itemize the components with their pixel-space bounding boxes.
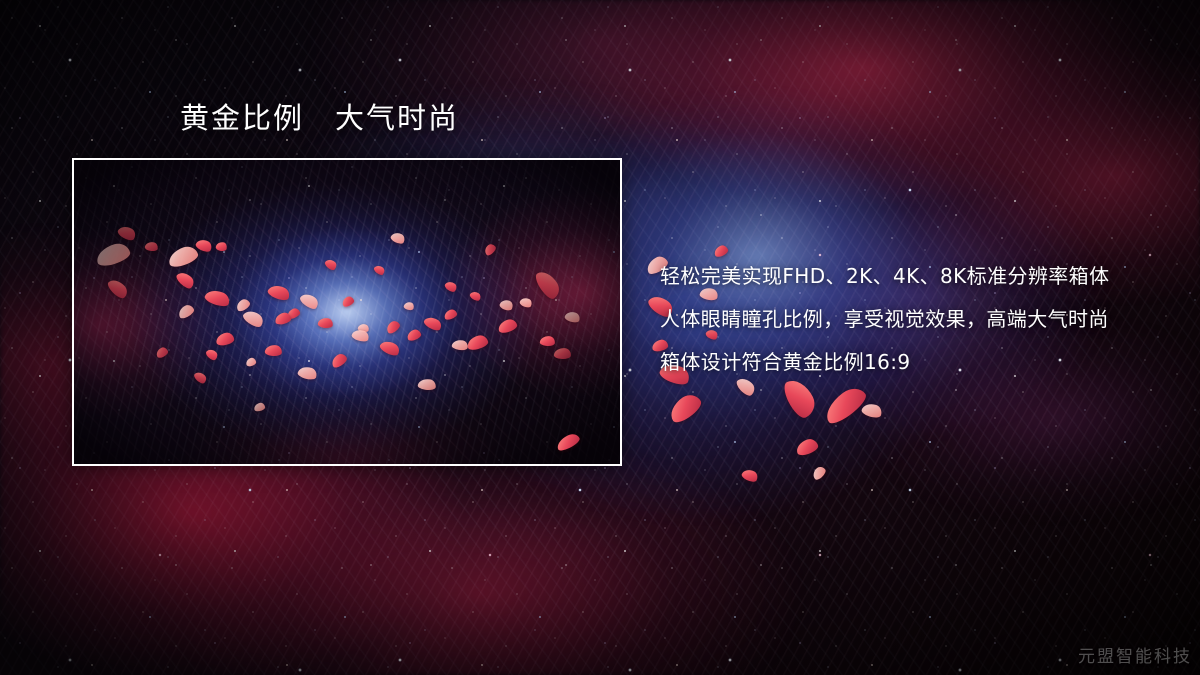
page-title: 黄金比例 大气时尚 [180, 100, 459, 136]
petal [794, 437, 819, 457]
petal [740, 467, 759, 484]
petal [810, 465, 827, 482]
preview-vignette [74, 160, 620, 464]
feature-description-block: 轻松完美实现FHD、2K、4K、8K标准分辨率箱体 人体眼睛瞳孔比例，享受视觉效… [660, 255, 1160, 384]
petal [860, 401, 883, 420]
preview-panel-frame [72, 158, 622, 466]
preview-image [74, 160, 620, 464]
petal [665, 390, 704, 426]
feature-line-3: 箱体设计符合黄金比例16:9 [660, 341, 1160, 384]
feature-line-2: 人体眼睛瞳孔比例，享受视觉效果，高端大气时尚 [660, 298, 1160, 341]
company-watermark: 元盟智能科技 [1078, 642, 1192, 667]
presentation-slide: 黄金比例 大气时尚 轻松完美实现FHD、2K、4K、8K标准分辨率箱体 人体眼睛… [0, 0, 1200, 675]
feature-line-1: 轻松完美实现FHD、2K、4K、8K标准分辨率箱体 [660, 255, 1160, 298]
petal [820, 383, 870, 428]
